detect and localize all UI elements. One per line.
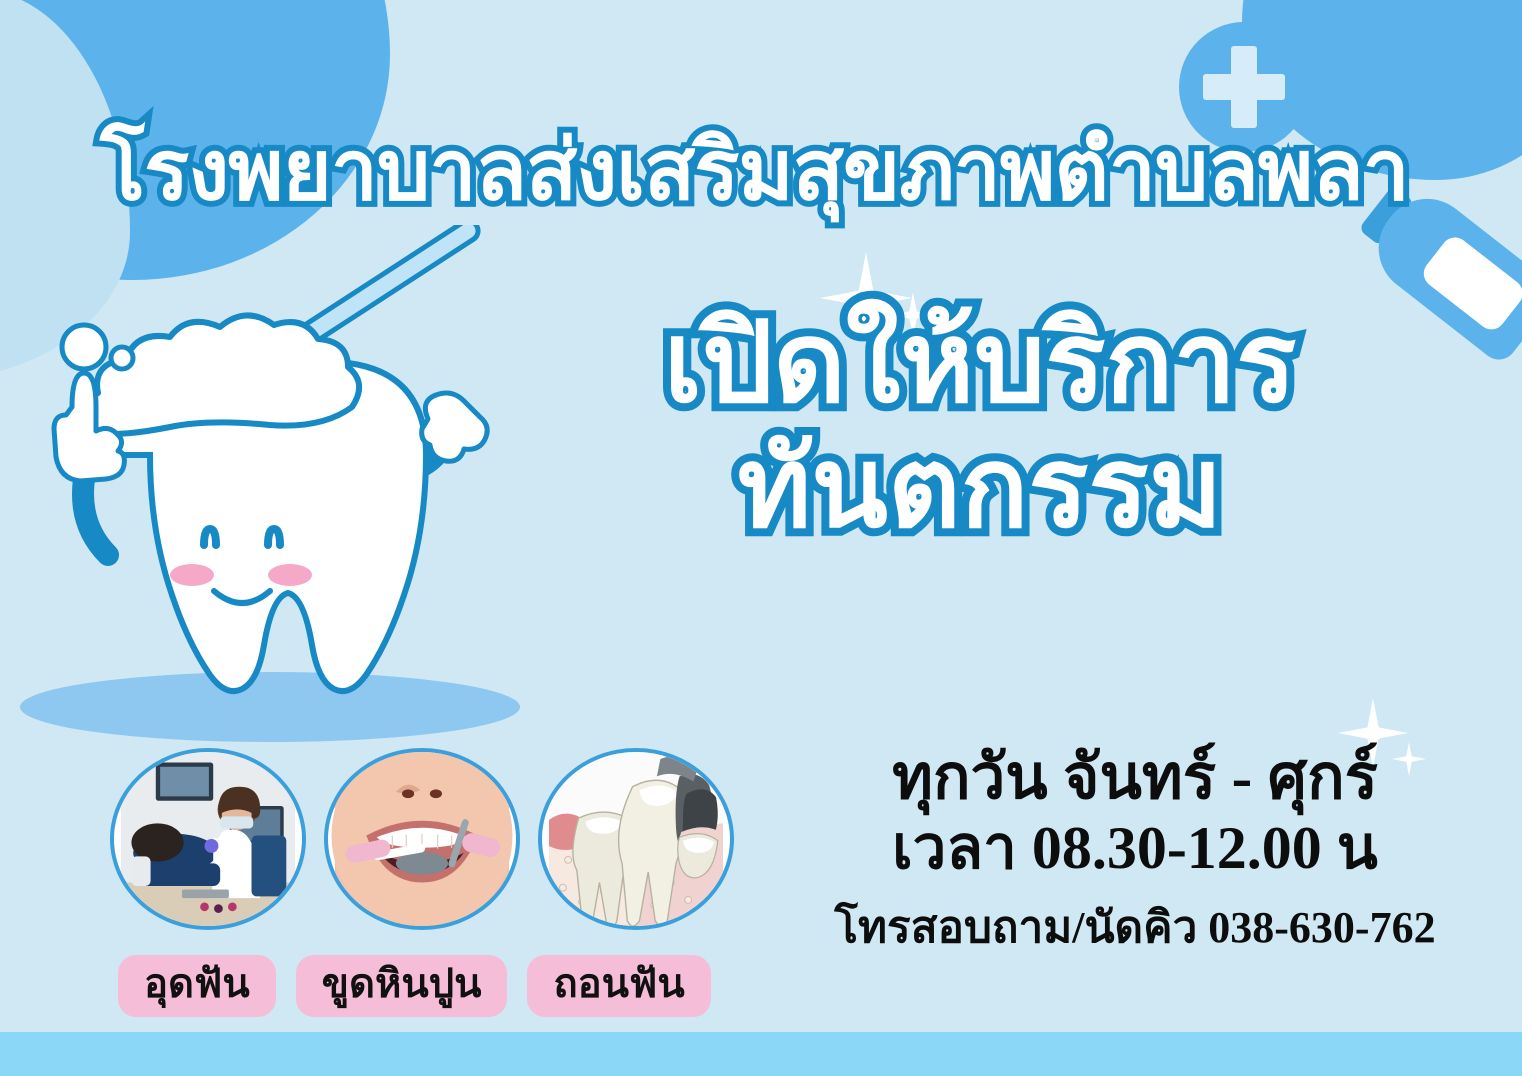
tooth-mascot-icon [18,225,548,725]
schedule-hours: เวลา 08.30-12.00 น [790,813,1480,884]
footer-bar [0,1032,1522,1076]
service-tag-filling[interactable]: อุดฟัน [118,955,276,1017]
photo-open-mouth-dental-cleaning [324,748,520,930]
poster-canvas: โรงพยาบาลส่งเสริมสุขภาพตำบลพลา เปิดให้บร… [0,0,1522,1076]
page-title: โรงพยาบาลส่งเสริมสุขภาพตำบลพลา [100,128,1409,212]
main-title-line-1: เปิดให้บริการ [560,300,1400,425]
main-title-block: เปิดให้บริการ ทันตกรรม [560,300,1400,551]
photo-gallery [110,748,734,930]
service-tags: อุดฟัน ขูดหินปูน ถอนฟัน [118,955,711,1017]
photo-tooth-extraction-illustration [538,748,734,930]
contact-phone[interactable]: โทรสอบถาม/นัดคิว 038-630-762 [790,906,1480,950]
photo-dentist-treating-patient [110,748,306,930]
main-title-line-2: ทันตกรรม [560,425,1400,550]
service-tag-extraction[interactable]: ถอนฟัน [527,955,710,1017]
service-tag-scaling[interactable]: ขูดหินปูน [296,955,508,1017]
cross-vertical-bar [1231,46,1257,128]
schedule-days: ทุกวัน จันทร์ - ศุกร์ [790,744,1480,813]
schedule-info-block: ทุกวัน จันทร์ - ศุกร์ เวลา 08.30-12.00 น… [790,744,1480,950]
